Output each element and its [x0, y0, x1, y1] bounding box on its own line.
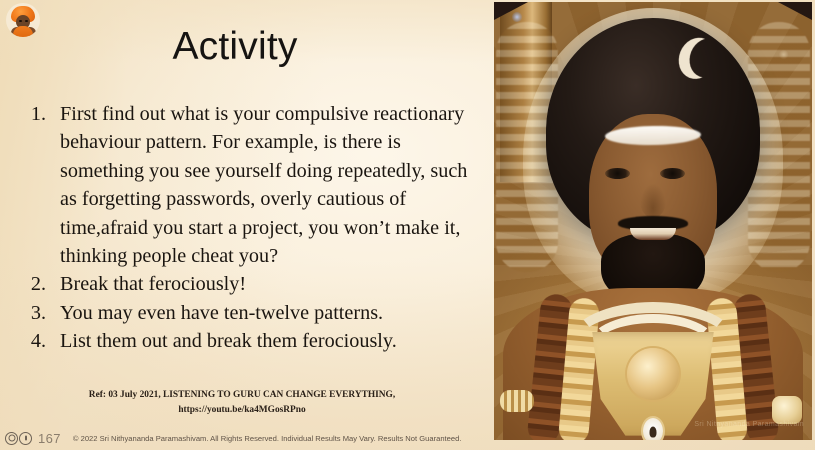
creative-commons-icons — [5, 432, 32, 445]
list-item-number: 3. — [20, 299, 46, 327]
reference-block: Ref: 03 July 2021, LISTENING TO GURU CAN… — [16, 388, 468, 418]
oval-locket-pendant — [643, 418, 663, 440]
gold-medallion-pendant — [627, 348, 679, 400]
armband-right-arm — [772, 396, 802, 424]
list-item: 2. Break that ferociously! — [16, 270, 468, 298]
creative-commons-by-icon — [19, 432, 32, 445]
activity-list: 1. First find out what is your compulsiv… — [16, 100, 468, 356]
creative-commons-icon — [5, 432, 18, 445]
reference-line: Ref: 03 July 2021, LISTENING TO GURU CAN… — [89, 390, 395, 400]
photo-watermark: Sri Nithyananda Paramashivam — [694, 421, 804, 428]
list-item-text: Break that ferociously! — [60, 273, 246, 295]
list-item: 4. List them out and break them ferociou… — [16, 327, 468, 355]
list-item-text: First find out what is your compulsive r… — [60, 103, 467, 267]
mouth-smile — [630, 228, 676, 240]
nose-shape — [640, 184, 666, 218]
avatar-eye-left — [19, 20, 22, 22]
list-item: 3. You may even have ten-twelve patterns… — [16, 299, 468, 327]
slide-title: Activity — [0, 25, 470, 69]
avatar-eye-right — [25, 20, 28, 22]
list-item-number: 1. — [20, 100, 46, 128]
page-number: 167 — [38, 431, 61, 446]
slide-canvas: Activity 1. First find out what is your … — [0, 0, 815, 450]
list-item-number: 2. — [20, 270, 46, 298]
copyright-notice: © 2022 Sri Nithyananda Paramashivam. All… — [73, 434, 462, 443]
slide-footer: 167 © 2022 Sri Nithyananda Paramashivam.… — [0, 428, 500, 448]
guru-portrait-photo: Sri Nithyananda Paramashivam — [494, 2, 812, 440]
eye-right — [660, 168, 685, 179]
list-item: 1. First find out what is your compulsiv… — [16, 100, 468, 270]
list-item-text: You may even have ten-twelve patterns. — [60, 302, 383, 324]
reference-url-link[interactable]: https://youtu.be/ka4MGosRPno — [16, 403, 468, 418]
list-item-number: 4. — [20, 327, 46, 355]
eye-left — [605, 168, 630, 179]
bracelet-left-wrist — [500, 390, 534, 412]
lens-flare-sparkle — [512, 12, 522, 22]
list-item-text: List them out and break them ferociously… — [60, 330, 397, 352]
